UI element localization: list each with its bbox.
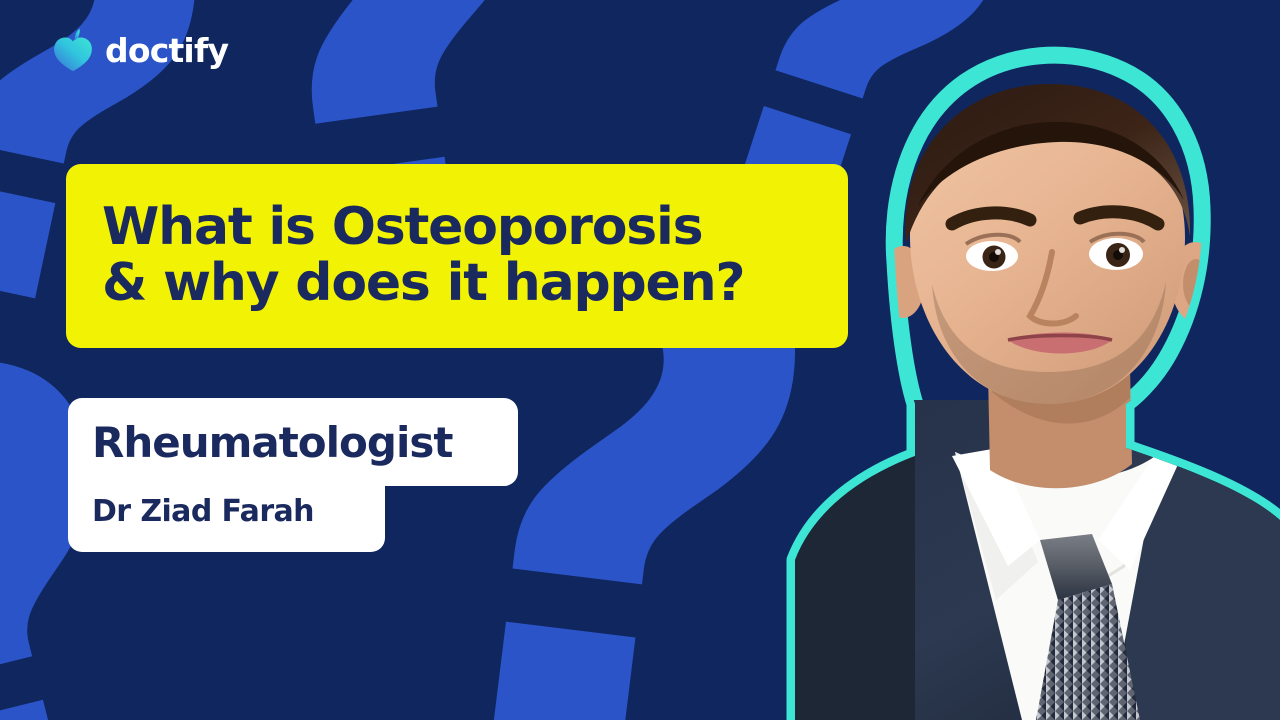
- doctify-wordmark: doctify: [105, 31, 228, 70]
- video-thumbnail: ? ? ? ? ?: [0, 0, 1280, 720]
- apple-heart-icon: [52, 28, 94, 72]
- video-title-card: What is Osteoporosis & why does it happe…: [66, 164, 848, 348]
- title-line-2: & why does it happen?: [102, 256, 812, 312]
- doctify-logo[interactable]: doctify: [52, 28, 228, 72]
- presenter-portrait: [740, 0, 1280, 720]
- speciality-label: Rheumatologist: [92, 418, 452, 467]
- presenter-name-card: Dr Ziad Farah: [68, 470, 385, 552]
- title-line-1: What is Osteoporosis: [102, 200, 812, 256]
- presenter-name-label: Dr Ziad Farah: [92, 494, 314, 529]
